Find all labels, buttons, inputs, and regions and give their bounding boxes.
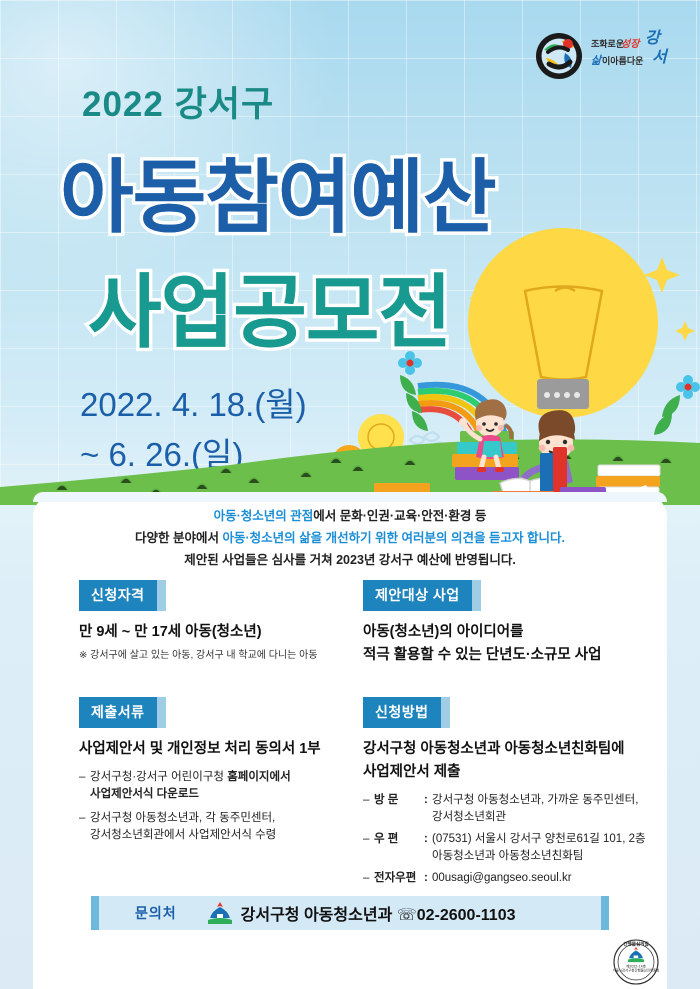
contact-bar: 문의처 강서구청 아동청소년과 ☏02-2600-1103 [99,896,601,930]
gangseo-ci-logo: 조화로운 성장 강 삶 이아름다운 서 [532,28,672,84]
svg-text:성장: 성장 [621,38,641,50]
bullet-text: 강서구청·강서구 어린이구청 홈페이지에서 사업제안서식 다운로드 [90,769,369,802]
item-value: (07531) 서울시 강서구 양천로61길 101, 2층 아동청소년과 아동… [432,831,663,864]
contact-text: 강서구청 아동청소년과 ☏02-2600-1103 [241,901,516,925]
bullet-text-c: 강서청소년회관에서 사업제안서식 수령 [90,829,276,841]
badge-target: 제안대상 사업 [363,580,472,611]
intro-line1-highlight: 아동·청소년의 관점 [214,509,314,523]
item-value-email[interactable]: 00usagi@gangseo.seoul.kr [432,870,663,887]
item-dash: – [363,831,374,864]
howto-head-line2: 사업제안서 제출 [363,762,663,783]
bullet-text-b: 홈페이지에서 [227,771,290,783]
intro-line1-rest: 에서 문화·인권·교육·안전·환경 등 [313,509,486,523]
svg-text:이아름다운: 이아름다운 [602,55,643,66]
approval-seal-svg: 제2022-14호 서울시강서구청간행물심의위원회 간행물심의필 [612,938,660,986]
howto-item-mail: – 우 편 : (07531) 서울시 강서구 양천로61길 101, 2층 아… [363,831,663,864]
svg-text:서울시강서구청간행물심의위원회: 서울시강서구청간행물심의위원회 [613,968,660,973]
item-key: 전자우편 [374,870,424,887]
documents-head: 사업제안서 및 개인정보 처리 동의서 1부 [79,739,369,760]
bullet-text-c: 사업제안서식 다운로드 [90,788,199,800]
documents-bullets: – 강서구청·강서구 어린이구청 홈페이지에서 사업제안서식 다운로드 – 강서… [79,769,369,843]
item-sep: : [424,792,432,825]
gangseo-emblem-icon [207,901,233,925]
item-sep: : [424,870,432,887]
howto-items: – 방 문 : 강서구청 아동청소년과, 가까운 동주민센터, 강서청소년회관 … [363,792,663,887]
item-dash: – [363,792,374,825]
item-value: 강서구청 아동청소년과, 가까운 동주민센터, 강서청소년회관 [432,792,663,825]
badge-howto: 신청방법 [363,697,441,728]
bullet-dash: – [79,769,90,802]
item-dash: – [363,870,374,887]
bullet-text-a: 강서구청 아동청소년과, 각 동주민센터, [90,812,275,824]
documents-bullet-2: – 강서구청 아동청소년과, 각 동주민센터, 강서청소년회관에서 사업제안서식… [79,810,369,843]
illustration [0,215,700,505]
svg-text:서: 서 [652,48,669,66]
svg-text:간행물심의필: 간행물심의필 [623,941,648,948]
ci-logo-svg: 조화로운 성장 강 삶 이아름다운 서 [532,28,672,84]
badge-documents: 제출서류 [79,697,157,728]
howto-head-line1: 강서구청 아동청소년과 아동청소년친화팀에 [363,739,663,760]
badge-eligibility: 신청자격 [79,580,157,611]
howto-item-email: – 전자우편 : 00usagi@gangseo.seoul.kr [363,870,663,887]
eligibility-note: ※ 강서구에 살고 있는 아동, 강서구 내 학교에 다니는 아동 [79,648,364,663]
approval-seal: 제2022-14호 서울시강서구청간행물심의위원회 간행물심의필 [612,938,660,986]
svg-text:강: 강 [645,29,662,47]
item-value-line1: 강서구청 아동청소년과, 가까운 동주민센터, [432,794,638,806]
intro-line2-highlight: 아동·청소년의 삶을 개선하기 위한 여러분의 의견을 듣고자 합니다. [223,531,565,545]
howto-item-visit: – 방 문 : 강서구청 아동청소년과, 가까운 동주민센터, 강서청소년회관 [363,792,663,825]
item-value-line2: 아동청소년과 아동청소년친화팀 [432,850,583,862]
item-value-line2: 강서청소년회관 [432,811,506,823]
poster-root: 조화로운 성장 강 삶 이아름다운 서 2022 강서구 아동참여예산 아동참여… [0,0,700,989]
section-eligibility: 신청자격 만 9세 ~ 만 17세 아동(청소년) ※ 강서구에 살고 있는 아… [79,580,364,663]
bullet-dash: – [79,810,90,843]
illustration-svg [0,215,700,505]
card-top-tint [33,492,667,502]
intro-line-2: 다양한 분야에서 아동·청소년의 삶을 개선하기 위한 여러분의 의견을 듣고자… [33,528,667,548]
content-card: 아동·청소년의 관점에서 문화·인권·교육·안전·환경 등 다양한 분야에서 아… [33,492,667,989]
contact-label: 문의처 [135,903,177,923]
intro-paragraph: 아동·청소년의 관점에서 문화·인권·교육·안전·환경 등 다양한 분야에서 아… [33,506,667,572]
item-sep: : [424,831,432,864]
section-howto: 신청방법 강서구청 아동청소년과 아동청소년친화팀에 사업제안서 제출 – 방 … [363,697,663,893]
section-documents: 제출서류 사업제안서 및 개인정보 처리 동의서 1부 – 강서구청·강서구 어… [79,697,369,851]
intro-line-1: 아동·청소년의 관점에서 문화·인권·교육·안전·환경 등 [33,506,667,526]
intro-line2-lead: 다양한 분야에서 [135,531,222,545]
section-target: 제안대상 사업 아동(청소년)의 아이디어를 적극 활용할 수 있는 단년도·소… [363,580,653,666]
item-key: 우 편 [374,831,424,864]
bullet-text-a: 강서구청·강서구 어린이구청 [90,771,227,783]
intro-line-3: 제안된 사업들은 심사를 거쳐 2023년 강서구 예산에 반영됩니다. [33,550,667,570]
target-head-line1: 아동(청소년)의 아이디어를 [363,622,653,643]
item-key: 방 문 [374,792,424,825]
item-value-line1: (07531) 서울시 강서구 양천로61길 101, 2층 [432,833,646,845]
svg-text:조화로운: 조화로운 [591,38,624,49]
year-subtitle: 2022 강서구 [82,76,274,127]
bullet-text: 강서구청 아동청소년과, 각 동주민센터, 강서청소년회관에서 사업제안서식 수… [90,810,369,843]
eligibility-head: 만 9세 ~ 만 17세 아동(청소년) [79,622,364,643]
documents-bullet-1: – 강서구청·강서구 어린이구청 홈페이지에서 사업제안서식 다운로드 [79,769,369,802]
target-head-line2: 적극 활용할 수 있는 단년도·소규모 사업 [363,645,653,666]
